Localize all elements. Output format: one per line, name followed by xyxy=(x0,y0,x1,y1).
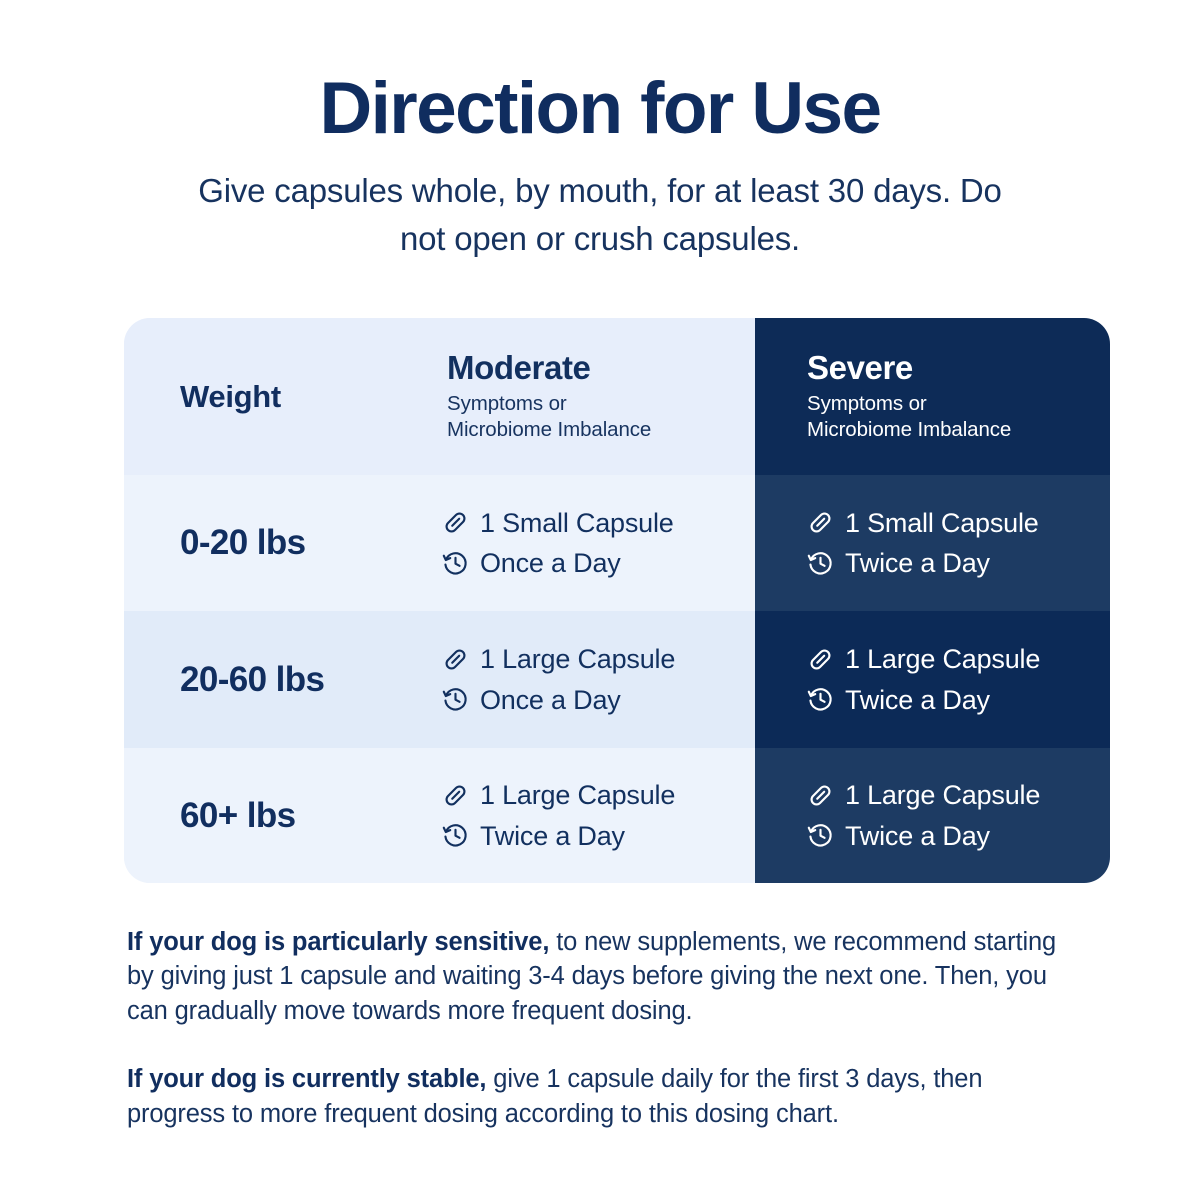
dose-capsule-text: 1 Large Capsule xyxy=(480,643,675,675)
page-subtitle: Give capsules whole, by mouth, for at le… xyxy=(180,167,1020,263)
dose-capsule-text: 1 Large Capsule xyxy=(480,779,675,811)
column-header-moderate-subtitle-line1: Symptoms or xyxy=(447,391,755,417)
column-header-severe-subtitle-line2: Microbiome Imbalance xyxy=(807,417,1110,443)
cell-weight: 20-60 lbs xyxy=(124,611,442,748)
capsule-icon xyxy=(807,509,834,536)
dose-capsule: 1 Small Capsule xyxy=(807,507,1110,539)
dose-capsule-text: 1 Small Capsule xyxy=(845,507,1039,539)
cell-severe: 1 Large Capsule Twice a Day xyxy=(755,611,1110,748)
table-row: 20-60 lbs 1 Large Capsule xyxy=(124,611,1110,748)
dose-capsule: 1 Large Capsule xyxy=(807,779,1110,811)
header-cell-severe: Severe Symptoms or Microbiome Imbalance xyxy=(755,318,1110,475)
dose-capsule: 1 Large Capsule xyxy=(442,779,755,811)
header-cell-moderate: Moderate Symptoms or Microbiome Imbalanc… xyxy=(442,318,755,475)
direction-for-use-page: Direction for Use Give capsules whole, b… xyxy=(0,0,1200,1200)
dose-frequency-text: Twice a Day xyxy=(845,684,990,716)
cell-moderate: 1 Small Capsule Once a Day xyxy=(442,475,755,611)
dose-frequency: Twice a Day xyxy=(807,547,1110,579)
dose-capsule: 1 Small Capsule xyxy=(442,507,755,539)
dose-frequency-text: Twice a Day xyxy=(480,820,625,852)
cell-severe: 1 Large Capsule Twice a Day xyxy=(755,748,1110,883)
clock-history-icon xyxy=(442,822,469,849)
dose-frequency: Once a Day xyxy=(442,547,755,579)
cell-moderate: 1 Large Capsule Once a Day xyxy=(442,611,755,748)
weight-value: 60+ lbs xyxy=(180,796,295,836)
note-stable: If your dog is currently stable, give 1 … xyxy=(127,1062,1087,1131)
capsule-icon xyxy=(807,782,834,809)
column-header-moderate-title: Moderate xyxy=(447,350,755,387)
cell-weight: 60+ lbs xyxy=(124,748,442,883)
note-sensitive-lead: If your dog is particularly sensitive, xyxy=(127,928,549,956)
table-row: 0-20 lbs 1 Small Capsule xyxy=(124,475,1110,611)
table-header-row: Weight Moderate Symptoms or Microbiome I… xyxy=(124,318,1110,475)
dosing-chart-table: Weight Moderate Symptoms or Microbiome I… xyxy=(124,318,1110,883)
dose-frequency-text: Once a Day xyxy=(480,547,621,579)
header-cell-weight: Weight xyxy=(124,318,442,475)
dose-capsule-text: 1 Small Capsule xyxy=(480,507,674,539)
column-header-severe-title: Severe xyxy=(807,350,1110,387)
weight-value: 20-60 lbs xyxy=(180,660,324,700)
clock-history-icon xyxy=(807,822,834,849)
weight-value: 0-20 lbs xyxy=(180,523,306,563)
dose-frequency-text: Twice a Day xyxy=(845,547,990,579)
dose-frequency: Twice a Day xyxy=(807,684,1110,716)
dose-capsule: 1 Large Capsule xyxy=(442,643,755,675)
dose-frequency-text: Twice a Day xyxy=(845,820,990,852)
clock-history-icon xyxy=(807,550,834,577)
capsule-icon xyxy=(442,646,469,673)
cell-severe: 1 Small Capsule Twice a Day xyxy=(755,475,1110,611)
dose-frequency: Twice a Day xyxy=(442,820,755,852)
note-sensitive: If your dog is particularly sensitive, t… xyxy=(127,925,1087,1028)
footer-notes: If your dog is particularly sensitive, t… xyxy=(127,925,1087,1165)
dose-capsule-text: 1 Large Capsule xyxy=(845,779,1040,811)
dose-capsule-text: 1 Large Capsule xyxy=(845,643,1040,675)
column-header-moderate-subtitle-line2: Microbiome Imbalance xyxy=(447,417,755,443)
dose-frequency-text: Once a Day xyxy=(480,684,621,716)
dose-frequency: Once a Day xyxy=(442,684,755,716)
dose-capsule: 1 Large Capsule xyxy=(807,643,1110,675)
dose-frequency: Twice a Day xyxy=(807,820,1110,852)
column-header-severe-subtitle-line1: Symptoms or xyxy=(807,391,1110,417)
table-row: 60+ lbs 1 Large Capsule xyxy=(124,748,1110,883)
cell-moderate: 1 Large Capsule Twice a Day xyxy=(442,748,755,883)
column-header-weight: Weight xyxy=(180,379,281,415)
clock-history-icon xyxy=(442,550,469,577)
cell-weight: 0-20 lbs xyxy=(124,475,442,611)
page-header: Direction for Use Give capsules whole, b… xyxy=(0,0,1200,263)
capsule-icon xyxy=(442,782,469,809)
capsule-icon xyxy=(807,646,834,673)
clock-history-icon xyxy=(807,686,834,713)
clock-history-icon xyxy=(442,686,469,713)
page-title: Direction for Use xyxy=(0,72,1200,145)
capsule-icon xyxy=(442,509,469,536)
note-stable-lead: If your dog is currently stable, xyxy=(127,1065,486,1093)
